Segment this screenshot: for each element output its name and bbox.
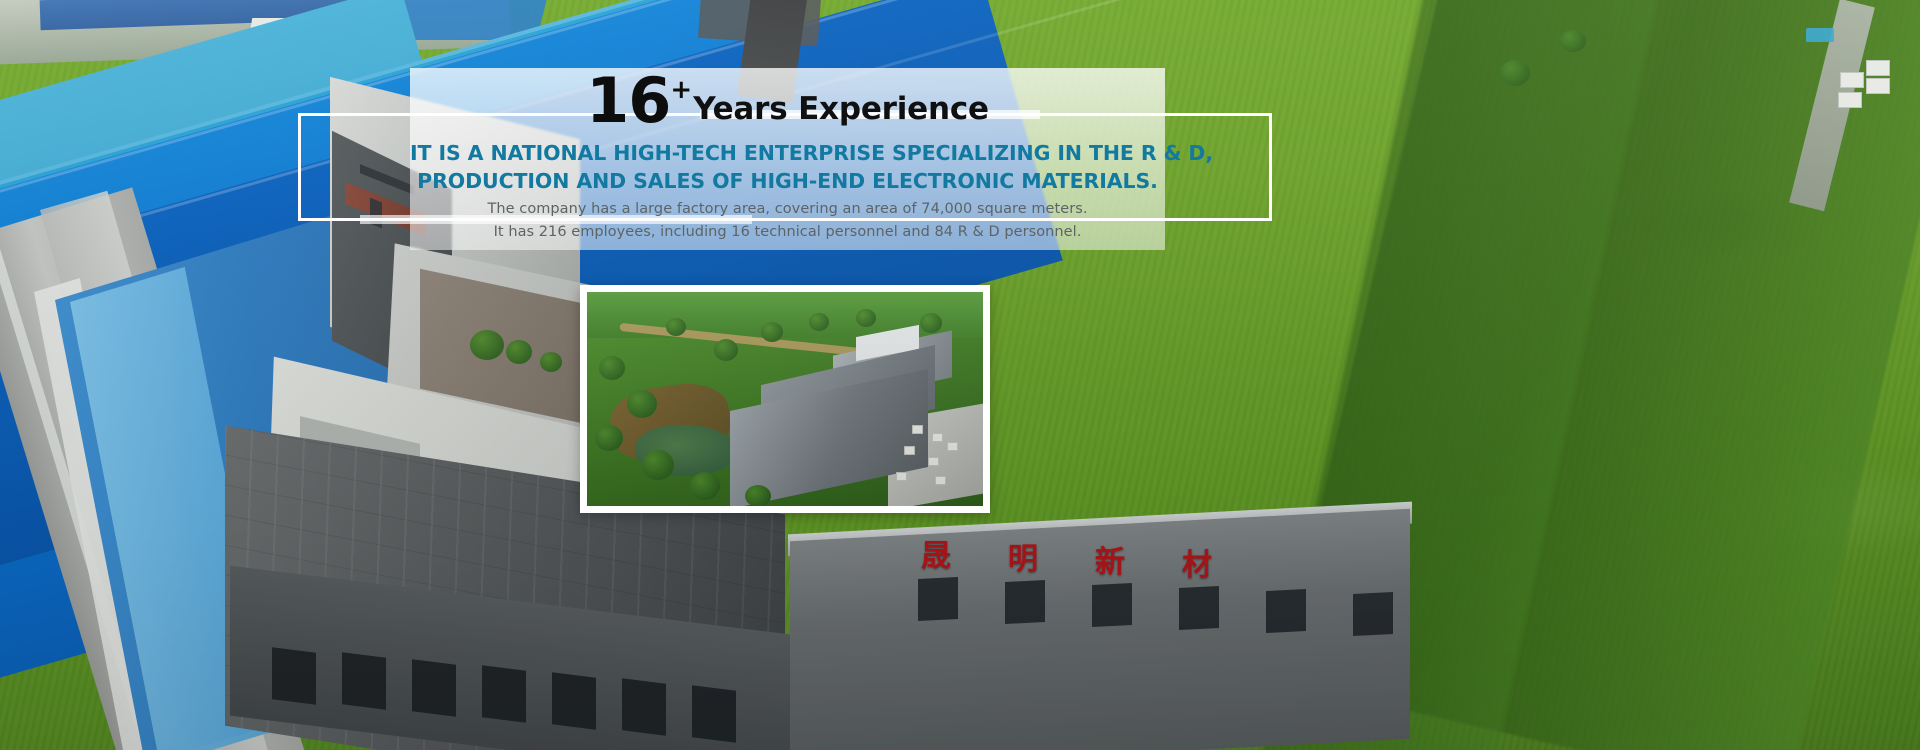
- pool: [1806, 28, 1834, 42]
- window: [482, 665, 526, 722]
- body-line-2: It has 216 employees, including 16 techn…: [410, 224, 1165, 240]
- window: [1092, 583, 1132, 627]
- years-number: 16: [586, 72, 670, 129]
- years-label: Years Experience: [693, 91, 989, 127]
- stacked-goods: [1838, 92, 1862, 108]
- window: [342, 652, 386, 709]
- window: [272, 647, 316, 704]
- window: [412, 659, 456, 716]
- inset-photo-image: [587, 292, 983, 506]
- signage-char-1: 晟: [921, 531, 951, 575]
- plus-sign: +: [670, 77, 692, 103]
- tree: [1500, 60, 1530, 86]
- headline-line-1: IT IS A NATIONAL HIGH-TECH ENTERPRISE SP…: [410, 141, 1165, 165]
- tree: [540, 352, 562, 372]
- tree: [506, 340, 532, 364]
- stacked-goods: [1866, 60, 1890, 76]
- window: [1353, 592, 1393, 636]
- stacked-goods: [1840, 72, 1864, 88]
- frame-segment-bottom-left: [300, 218, 362, 221]
- tree: [1560, 30, 1586, 52]
- frame-segment-bottom-right: [1108, 218, 1172, 221]
- window: [622, 678, 666, 735]
- inset-color-grade: [587, 292, 983, 506]
- window: [1005, 580, 1045, 624]
- signage-char-4: 材: [1182, 540, 1212, 584]
- inset-photo-frame: [580, 285, 990, 513]
- signage-char-3: 新: [1095, 537, 1125, 581]
- window: [918, 577, 958, 621]
- signage-char-2: 明: [1008, 534, 1038, 578]
- window: [1179, 586, 1219, 630]
- body-line-1: The company has a large factory area, co…: [410, 201, 1165, 217]
- hero-banner: 晟 明 新 材 16 + Years Experience IT IS A NA…: [0, 0, 1920, 750]
- tree: [470, 330, 504, 360]
- window: [1266, 589, 1306, 633]
- window: [552, 672, 596, 729]
- window: [692, 685, 736, 742]
- stacked-goods: [1866, 78, 1890, 94]
- years-experience-badge: 16 + Years Experience: [410, 72, 1165, 129]
- headline-line-2: PRODUCTION AND SALES OF HIGH-END ELECTRO…: [410, 169, 1165, 193]
